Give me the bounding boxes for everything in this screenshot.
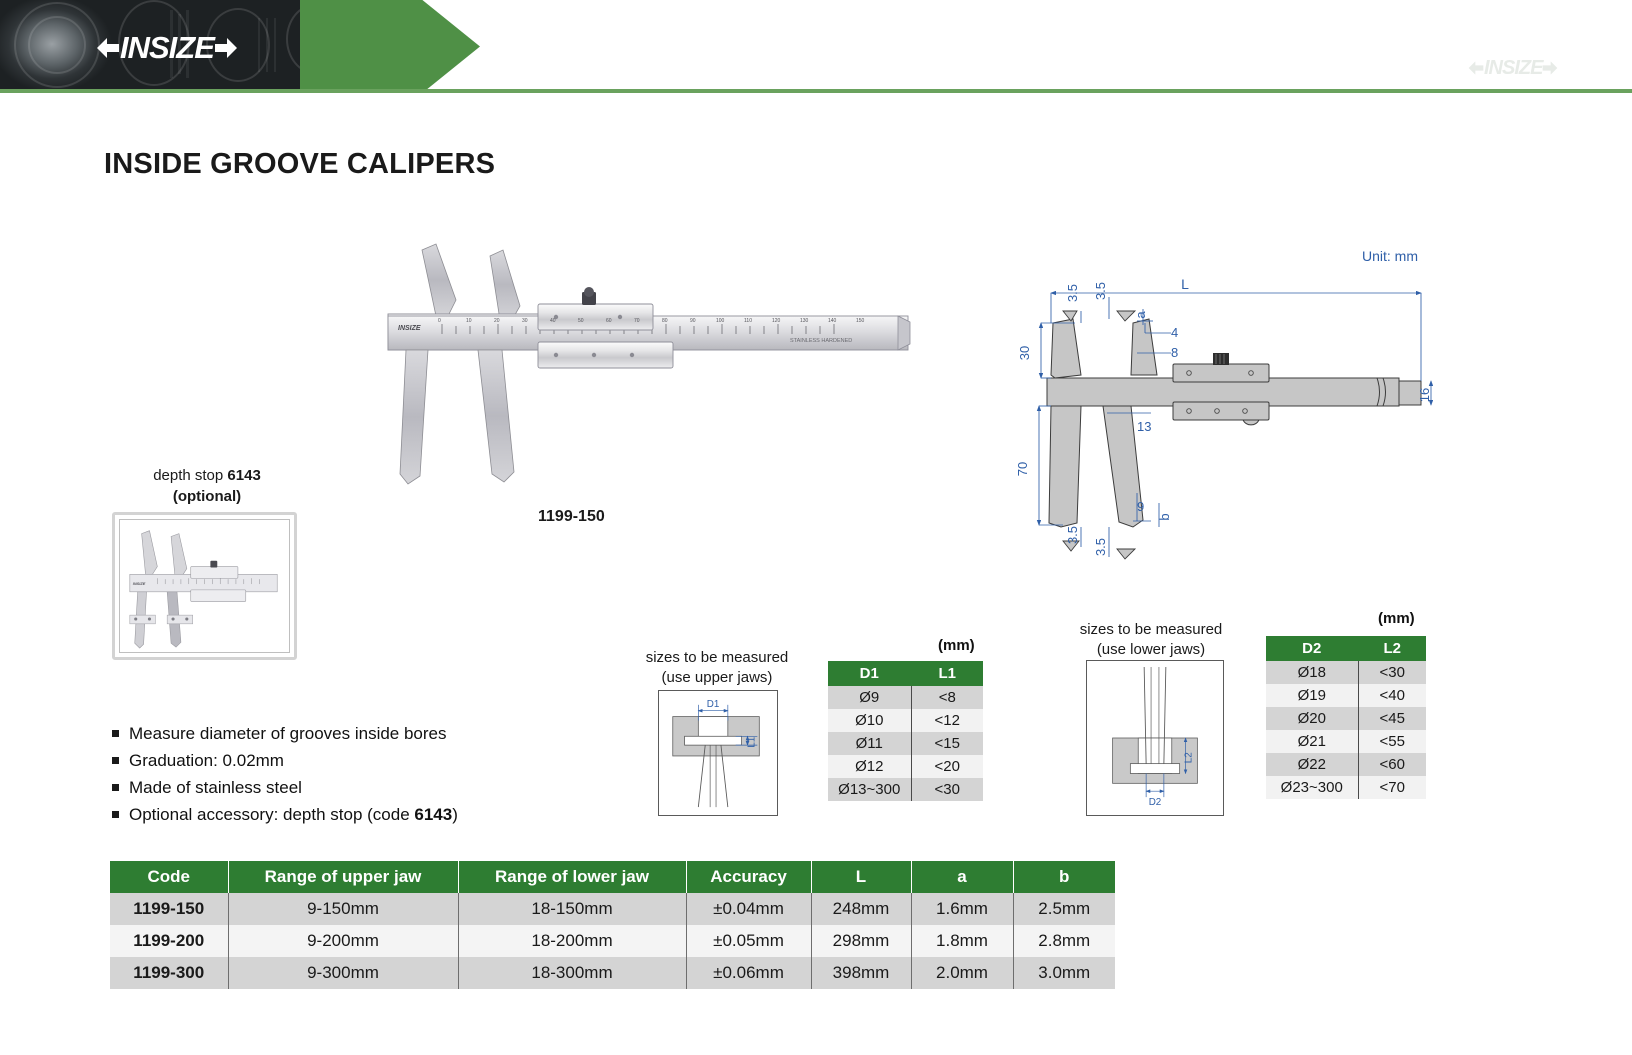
dim-top-chamfer-1: 3.5: [1065, 284, 1080, 302]
dim-30: 30: [1017, 346, 1032, 360]
feature-item: Made of stainless steel: [112, 776, 612, 800]
d1-header-l1: L1: [911, 661, 983, 686]
table-row: 1199-150 9-150mm 18-150mm ±0.04mm 248mm …: [110, 893, 1115, 925]
svg-text:80: 80: [662, 318, 668, 324]
svg-text:140: 140: [828, 318, 837, 324]
d1-header-d1: D1: [828, 661, 911, 686]
cell-lower-range: 18-200mm: [458, 925, 686, 957]
cell-a: 1.8mm: [911, 925, 1013, 957]
watermark-left-arrow-icon: [1468, 59, 1484, 77]
feature-text: Made of stainless steel: [129, 776, 302, 800]
svg-text:110: 110: [744, 318, 752, 324]
dim-L: L: [1181, 276, 1189, 292]
cell-upper-range: 9-200mm: [228, 925, 458, 957]
cell-d2: Ø22: [1266, 753, 1358, 776]
cell-l2: <45: [1358, 707, 1426, 730]
feature-text-optional: Optional accessory: depth stop (code 614…: [129, 803, 458, 827]
cell-d2: Ø23~300: [1266, 776, 1358, 799]
cell-code: 1199-200: [110, 925, 228, 957]
depth-stop-label: depth stop: [153, 467, 227, 484]
cell-d1: Ø12: [828, 755, 911, 778]
cell-l1: <8: [911, 686, 983, 709]
cell-l2: <55: [1358, 730, 1426, 753]
logo-right-arrow-icon: [214, 35, 238, 61]
svg-text:INSIZE: INSIZE: [133, 581, 146, 586]
cell-d1: Ø10: [828, 709, 911, 732]
specification-table: Code Range of upper jaw Range of lower j…: [110, 861, 1115, 989]
dim-8: 8: [1171, 345, 1178, 360]
cell-accuracy: ±0.04mm: [686, 893, 811, 925]
table-row: Ø11<15: [828, 732, 983, 755]
logo-left-arrow-icon: [96, 35, 120, 61]
feature-item: Graduation: 0.02mm: [112, 749, 612, 773]
feature-code: 6143: [414, 805, 452, 824]
cell-b: 2.5mm: [1013, 893, 1115, 925]
upper-caption-line1: sizes to be measured: [646, 649, 789, 666]
upper-caption-line2: (use upper jaws): [662, 669, 773, 686]
table-row: 1199-300 9-300mm 18-300mm ±0.06mm 398mm …: [110, 957, 1115, 989]
cell-l2: <70: [1358, 776, 1426, 799]
depth-stop-caption: depth stop 6143 (optional): [112, 466, 302, 507]
cell-lower-range: 18-300mm: [458, 957, 686, 989]
svg-text:20: 20: [494, 318, 500, 324]
bullet-square-icon: [112, 811, 119, 818]
cell-d1: Ø11: [828, 732, 911, 755]
feature-item: Optional accessory: depth stop (code 614…: [112, 803, 612, 827]
lower-caption-line1: sizes to be measured: [1080, 621, 1223, 638]
cell-l1: <30: [911, 778, 983, 801]
svg-text:INSIZE: INSIZE: [398, 325, 421, 332]
cell-d2: Ø21: [1266, 730, 1358, 753]
depth-stop-optional: (optional): [173, 488, 241, 505]
cell-d2: Ø19: [1266, 684, 1358, 707]
label-D2: D2: [1149, 797, 1162, 808]
spec-header-row: Code Range of upper jaw Range of lower j…: [110, 861, 1115, 893]
dim-a: a: [1133, 311, 1148, 319]
cell-code: 1199-300: [110, 957, 228, 989]
cell-L: 298mm: [811, 925, 911, 957]
cell-b: 2.8mm: [1013, 925, 1115, 957]
table-row: Ø21<55: [1266, 730, 1426, 753]
cell-l1: <12: [911, 709, 983, 732]
upper-jaw-diagram-caption: sizes to be measured (use upper jaws): [628, 648, 806, 687]
insize-watermark: INSIZE: [1468, 58, 1558, 78]
technical-drawing: L 30 70 4 8 13 9 a b 3.5 3.5 3.5 3.5 16: [985, 235, 1435, 565]
product-caption: 1199-150: [538, 508, 605, 526]
svg-text:60: 60: [606, 318, 612, 324]
watermark-right-arrow-icon: [1542, 59, 1558, 77]
label-L1: L1: [746, 737, 757, 748]
table-row: Ø23~300<70: [1266, 776, 1426, 799]
table-row: Ø12<20: [828, 755, 983, 778]
dim-9: 9: [1137, 499, 1144, 514]
cell-lower-range: 18-150mm: [458, 893, 686, 925]
d1-l1-table: D1 L1 Ø9<8 Ø10<12 Ø11<15 Ø12<20 Ø13~300<…: [828, 661, 983, 801]
spec-header-lower: Range of lower jaw: [458, 861, 686, 893]
label-D1: D1: [707, 699, 720, 710]
upper-jaw-diagram: D1 L1: [658, 690, 778, 816]
dim-13: 13: [1137, 419, 1151, 434]
cell-l2: <60: [1358, 753, 1426, 776]
dim-b: b: [1157, 513, 1172, 520]
d1-table-unit: (mm): [938, 637, 975, 654]
lower-caption-line2: (use lower jaws): [1097, 641, 1205, 658]
unit-label: Unit: mm: [1362, 248, 1418, 264]
feature-item: Measure diameter of grooves inside bores: [112, 722, 612, 746]
cell-d1: Ø13~300: [828, 778, 911, 801]
cell-upper-range: 9-300mm: [228, 957, 458, 989]
bullet-square-icon: [112, 784, 119, 791]
cell-d1: Ø9: [828, 686, 911, 709]
svg-text:120: 120: [772, 318, 781, 324]
cell-L: 248mm: [811, 893, 911, 925]
cell-b: 3.0mm: [1013, 957, 1115, 989]
features-list: Measure diameter of grooves inside bores…: [112, 722, 612, 831]
dim-bottom-chamfer-1: 3.5: [1065, 526, 1080, 544]
dim-70: 70: [1015, 462, 1030, 476]
bullet-square-icon: [112, 757, 119, 764]
spec-header-accuracy: Accuracy: [686, 861, 811, 893]
cell-upper-range: 9-150mm: [228, 893, 458, 925]
svg-text:0: 0: [438, 318, 441, 324]
page-title: INSIDE GROOVE CALIPERS: [104, 148, 495, 181]
cell-L: 398mm: [811, 957, 911, 989]
spec-header-a: a: [911, 861, 1013, 893]
cell-l2: <40: [1358, 684, 1426, 707]
svg-text:90: 90: [690, 318, 696, 324]
insize-watermark-text: INSIZE: [1484, 57, 1542, 80]
cell-l2: <30: [1358, 661, 1426, 684]
cell-a: 1.6mm: [911, 893, 1013, 925]
d2-header-d2: D2: [1266, 636, 1358, 661]
svg-text:150: 150: [856, 318, 865, 324]
d2-l2-table: D2 L2 Ø18<30 Ø19<40 Ø20<45 Ø21<55 Ø22<60…: [1266, 636, 1426, 799]
feature-pre: Optional accessory: depth stop (code: [129, 805, 414, 824]
d2-table-unit: (mm): [1378, 610, 1415, 627]
depth-stop-illustration: INSIZE: [120, 520, 289, 652]
table-row: Ø19<40: [1266, 684, 1426, 707]
svg-text:40: 40: [550, 318, 556, 324]
label-L2: L2: [1183, 752, 1194, 763]
svg-text:50: 50: [578, 318, 584, 324]
cell-accuracy: ±0.06mm: [686, 957, 811, 989]
depth-stop-photo-frame: INSIZE: [112, 512, 297, 660]
lower-jaw-diagram-caption: sizes to be measured (use lower jaws): [1060, 620, 1242, 659]
table-row: Ø22<60: [1266, 753, 1426, 776]
table-row: Ø18<30: [1266, 661, 1426, 684]
dim-16: 16: [1417, 388, 1432, 402]
cell-code: 1199-150: [110, 893, 228, 925]
lower-jaw-diagram: L2 D2: [1086, 660, 1224, 816]
dim-bottom-chamfer-2: 3.5: [1093, 538, 1108, 556]
table-row: Ø20<45: [1266, 707, 1426, 730]
d2-header-l2: L2: [1358, 636, 1426, 661]
table-row: Ø13~300<30: [828, 778, 983, 801]
bullet-square-icon: [112, 730, 119, 737]
product-photo-caliper: INSIZE STAINLESS HARDENED 01020 304050 6…: [370, 230, 930, 510]
svg-text:130: 130: [800, 318, 809, 324]
spec-header-upper: Range of upper jaw: [228, 861, 458, 893]
insize-logo: INSIZE: [96, 33, 238, 63]
page-header: INSIZE INSIZE: [0, 0, 1632, 93]
cell-accuracy: ±0.05mm: [686, 925, 811, 957]
depth-stop-code: 6143: [227, 467, 260, 484]
svg-text:10: 10: [466, 318, 472, 324]
svg-text:30: 30: [522, 318, 528, 324]
cell-a: 2.0mm: [911, 957, 1013, 989]
table-row: Ø9<8: [828, 686, 983, 709]
dim-4: 4: [1171, 325, 1178, 340]
table-row: Ø10<12: [828, 709, 983, 732]
svg-text:70: 70: [634, 318, 640, 324]
cell-l1: <15: [911, 732, 983, 755]
svg-text:100: 100: [716, 318, 725, 324]
cell-l1: <20: [911, 755, 983, 778]
feature-text: Measure diameter of grooves inside bores: [129, 722, 447, 746]
insize-logo-text: INSIZE: [120, 30, 214, 66]
feature-text: Graduation: 0.02mm: [129, 749, 284, 773]
spec-header-L: L: [811, 861, 911, 893]
spec-header-b: b: [1013, 861, 1115, 893]
cell-d2: Ø20: [1266, 707, 1358, 730]
spec-header-code: Code: [110, 861, 228, 893]
cell-d2: Ø18: [1266, 661, 1358, 684]
dim-top-chamfer-2: 3.5: [1093, 282, 1108, 300]
feature-post: ): [452, 805, 458, 824]
svg-text:STAINLESS HARDENED: STAINLESS HARDENED: [790, 338, 852, 344]
table-row: 1199-200 9-200mm 18-200mm ±0.05mm 298mm …: [110, 925, 1115, 957]
depth-stop-photo: INSIZE: [119, 519, 290, 653]
header-underline: [0, 89, 1632, 93]
header-green-arrow: [300, 0, 480, 93]
